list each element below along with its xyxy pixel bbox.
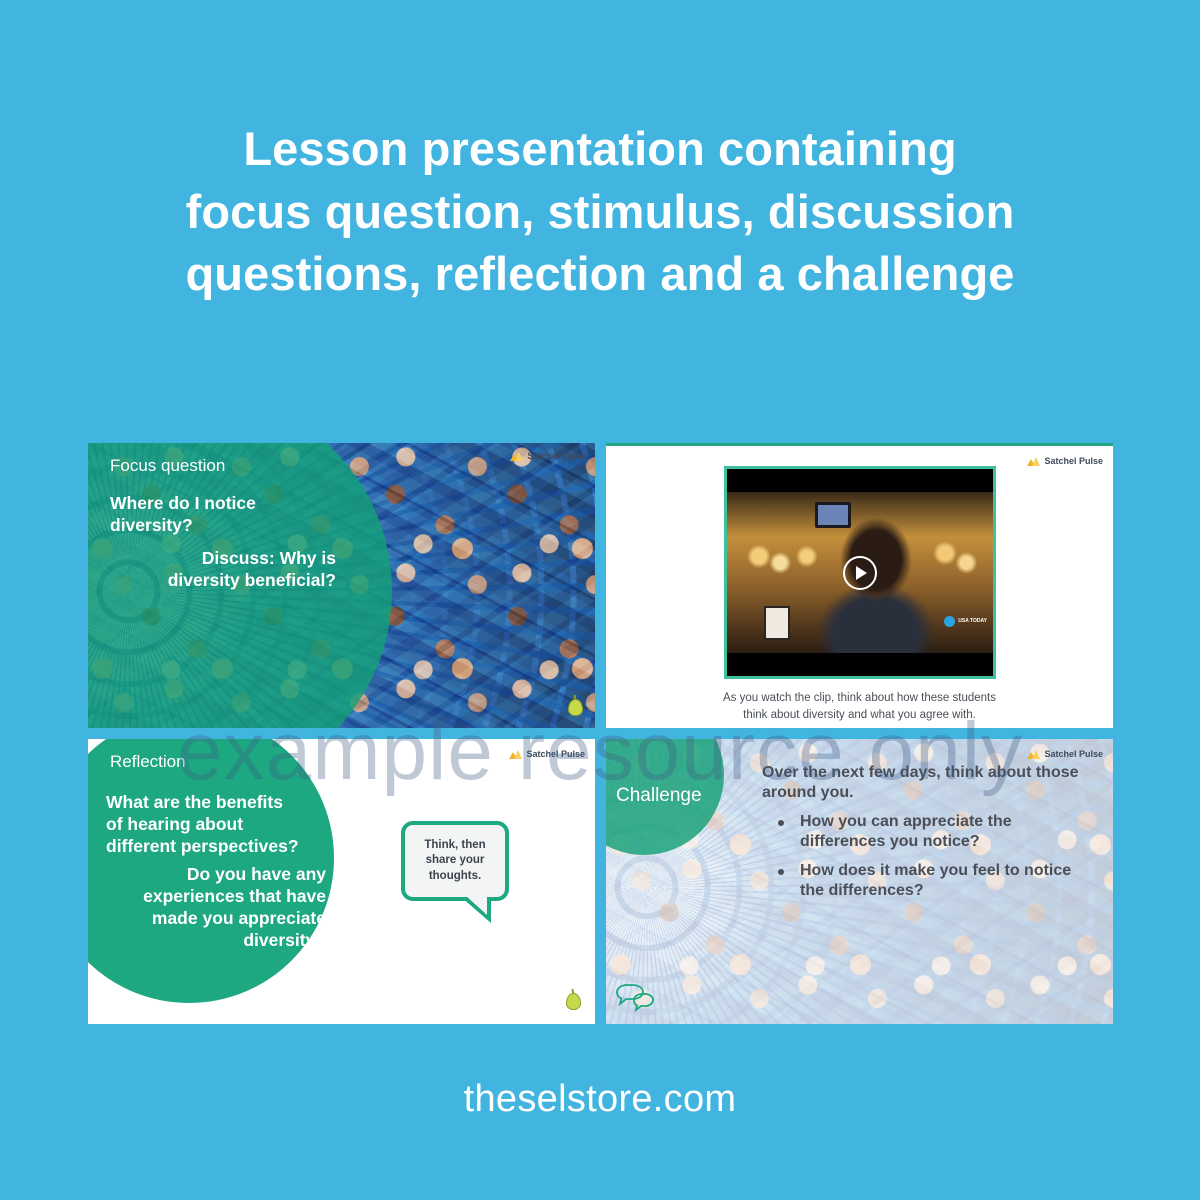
mountain-logo-icon: [1027, 457, 1040, 466]
promo-page: Lesson presentation containing focus que…: [0, 0, 1200, 1200]
mountain-logo-icon: [510, 452, 523, 461]
background-poster: [764, 606, 790, 640]
speech-bubble-tail: [461, 897, 491, 923]
slide-focus-question[interactable]: Satchel Pulse Focus question Where do I …: [88, 443, 595, 728]
footer-url: theselstore.com: [0, 1078, 1200, 1121]
challenge-bullet: How does it make you feel to notice the …: [778, 861, 1082, 902]
slide-kicker: Challenge: [616, 785, 702, 807]
satchel-pear-icon: [566, 989, 581, 1010]
satchel-pulse-logo: Satchel Pulse: [1027, 456, 1103, 466]
brand-name: Satchel Pulse: [1044, 749, 1103, 759]
video-player[interactable]: USA TODAY: [724, 466, 996, 679]
slide-kicker: Focus question: [110, 456, 225, 476]
mountain-logo-icon: [1027, 750, 1040, 759]
slide-kicker: Reflection: [110, 752, 186, 772]
satchel-pulse-logo: Satchel Pulse: [1027, 749, 1103, 759]
slide-challenge[interactable]: Satchel Pulse Challenge Over the next fe…: [606, 739, 1113, 1024]
challenge-content: Over the next few days, think about thos…: [762, 763, 1082, 910]
reflection-question-secondary: Do you have any experiences that have ma…: [102, 863, 326, 951]
challenge-bullet: How you can appreciate the differences y…: [778, 812, 1082, 853]
focus-question-primary: Where do I notice diversity?: [110, 492, 350, 536]
focus-question-secondary: Discuss: Why is diversity beneficial?: [110, 547, 336, 591]
speech-bubble-text: Think, then share your thoughts.: [424, 838, 485, 884]
slide-stimulus-video[interactable]: Satchel Pulse USA TODAY As you watch the…: [606, 443, 1113, 728]
video-caption: As you watch the clip, think about how t…: [646, 690, 1073, 723]
brand-name: Satchel Pulse: [1044, 456, 1103, 466]
video-source-badge: USA TODAY: [958, 619, 987, 624]
brand-name: Satchel Pulse: [526, 749, 585, 759]
mountain-logo-icon: [509, 750, 522, 759]
satchel-pulse-logo: Satchel Pulse: [510, 451, 586, 461]
satchel-pulse-logo: Satchel Pulse: [509, 749, 585, 759]
speech-bubbles-icon: [614, 980, 654, 1012]
background-monitor: [815, 502, 851, 528]
page-title: Lesson presentation containing focus que…: [0, 118, 1200, 306]
slide-reflection[interactable]: Satchel Pulse Reflection What are the be…: [88, 739, 595, 1024]
challenge-bullet-list: How you can appreciate the differences y…: [762, 812, 1082, 902]
satchel-pear-icon: [568, 695, 583, 716]
brand-name: Satchel Pulse: [527, 451, 586, 461]
usa-today-watermark: USA TODAY: [944, 616, 987, 627]
challenge-lead: Over the next few days, think about thos…: [762, 763, 1082, 804]
reflection-question-primary: What are the benefits of hearing about d…: [106, 791, 326, 857]
slide-thumbnail-grid: Satchel Pulse Focus question Where do I …: [88, 443, 1113, 1025]
speech-bubble-callout: Think, then share your thoughts.: [401, 821, 509, 901]
play-button-icon[interactable]: [843, 556, 877, 590]
